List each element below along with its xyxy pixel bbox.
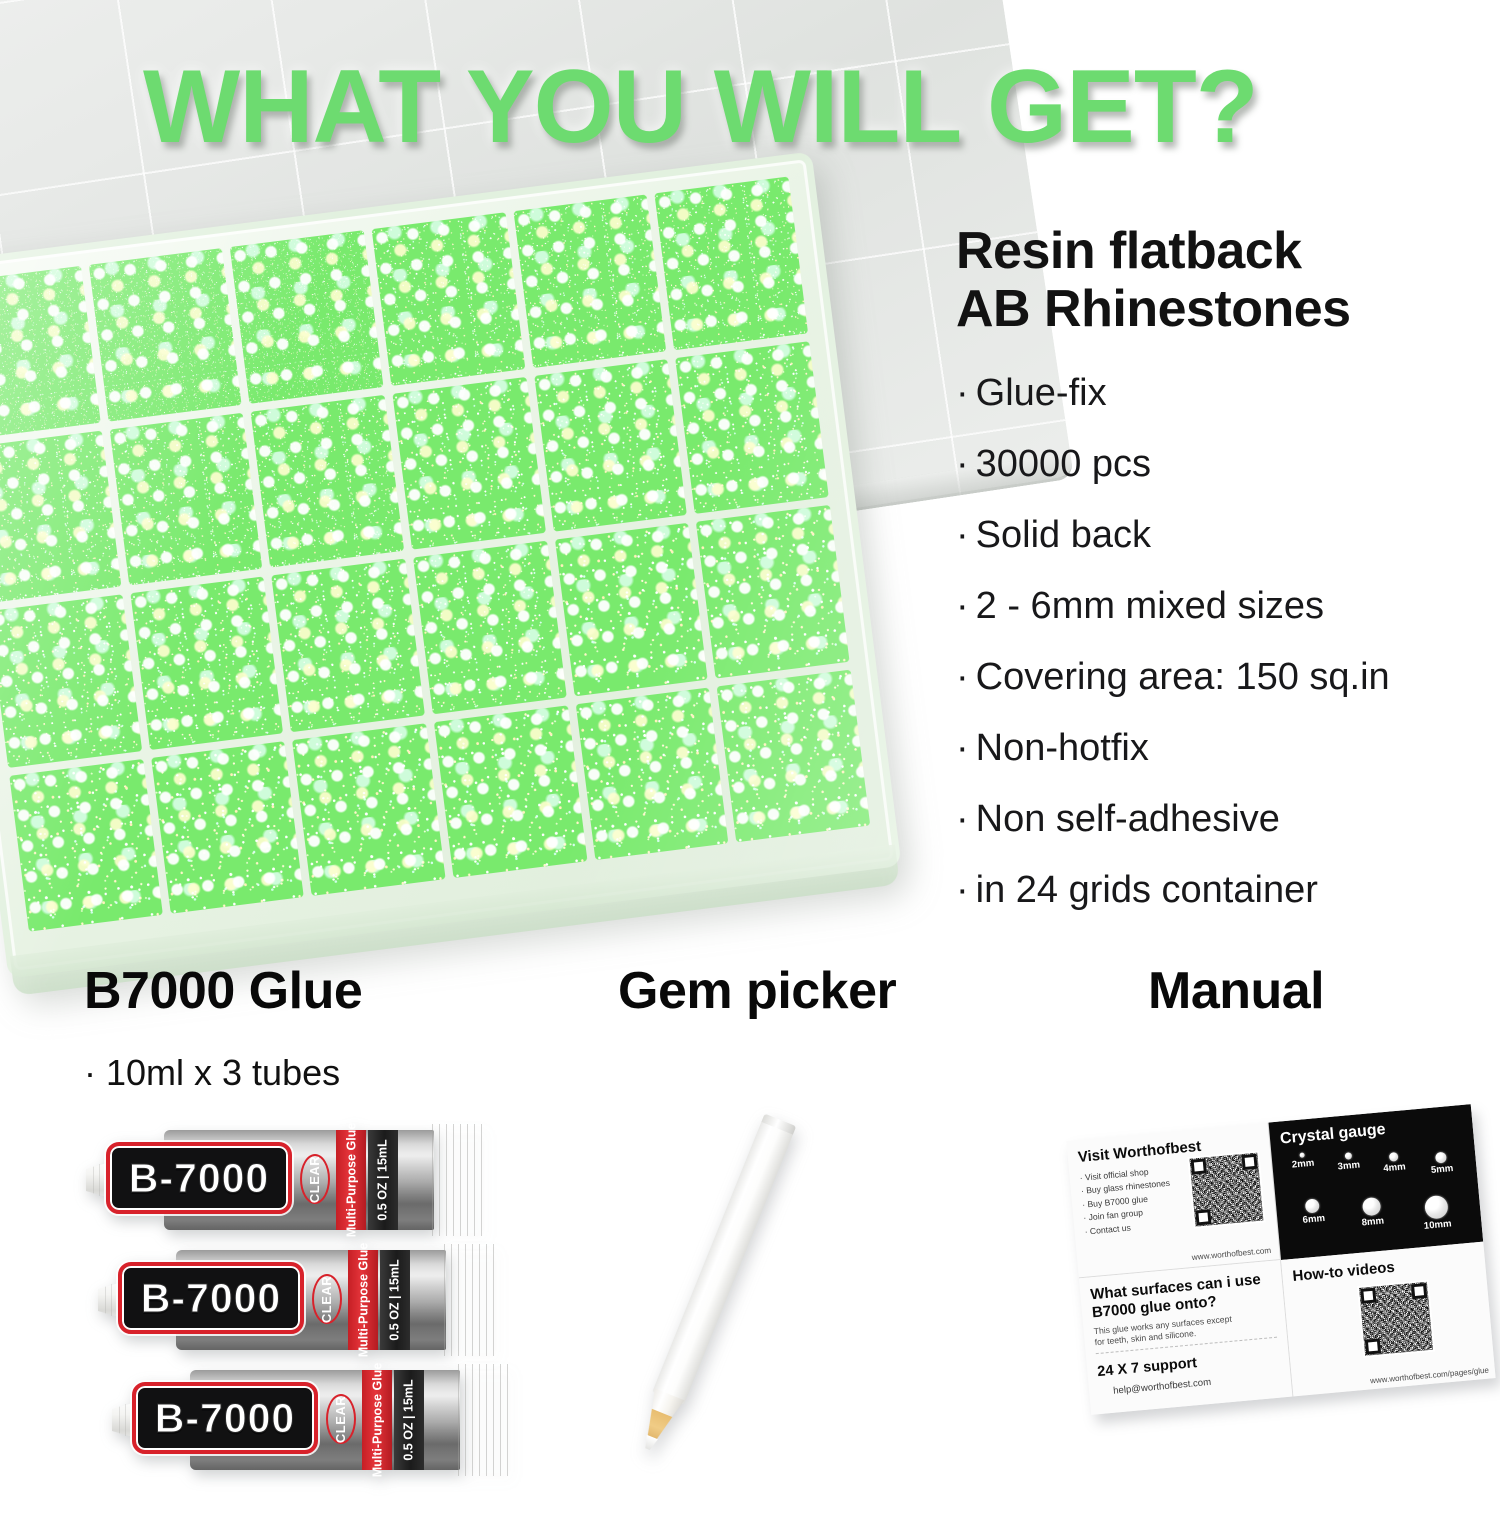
tube-crimp-end [438,1244,500,1356]
gauge-label: 10mm [1411,1218,1465,1234]
list-item: ·Glue-fix [956,358,1500,429]
section-heading-gem-picker: Gem picker [618,962,896,1020]
manual-card: Visit Worthofbest · Visit official shop … [1066,1104,1495,1415]
tube-crimp-end [426,1124,488,1236]
compartment-cell [372,212,525,385]
tube-purpose-strip: Multi-Purpose Glue [362,1370,392,1470]
compartment-cell [513,194,666,367]
bullet-dot-icon: · [956,727,969,769]
gauge-label: 3mm [1330,1159,1369,1173]
list-item: ·Covering area: 150 sq.in [956,642,1500,713]
compartment-cell [292,723,445,896]
compartment-cell [0,266,100,439]
compartment-grid [0,177,870,932]
gem-dot-icon [1435,1152,1447,1164]
glue-tube: B-7000 CLEAR Multi-Purpose Glue 0.5 OZ |… [98,1248,513,1352]
tube-volume-text: 0.5 OZ | 15mL [388,1259,402,1340]
tube-brand-label: B-7000 [118,1262,304,1334]
tube-clear-text: CLEAR [334,1395,349,1442]
tube-volume-strip: 0.5 OZ | 15mL [394,1370,424,1470]
infographic-canvas: WHAT YOU WILL GET? Resin flatback AB Rhi… [0,0,1500,1492]
qr-finder-icon [1410,1283,1426,1299]
qr-finder-icon [1241,1154,1257,1170]
gauge-sample: 8mm [1348,1196,1396,1230]
tube-brand-text: B-7000 [155,1395,295,1442]
manual-quadrant-crystal-gauge: Crystal gauge 2mm 3mm 4mm 5mm [1269,1104,1484,1259]
tube-brand-text: B-7000 [141,1275,281,1322]
list-item-label: in 24 grids container [976,869,1318,911]
gauge-label: 8mm [1350,1215,1396,1230]
gem-dot-icon [1424,1195,1449,1220]
compartment-cell [0,430,121,603]
gem-dot-icon [1344,1152,1352,1160]
gauge-label: 5mm [1421,1163,1463,1178]
compartment-cell [655,177,808,350]
bullet-dot-icon: · [956,869,969,911]
compartment-cell [575,687,728,860]
tube-brand-label: B-7000 [132,1382,318,1454]
gauge-sample: 2mm [1283,1151,1322,1171]
qr-finder-icon [1195,1209,1211,1225]
feature-column: Resin flatback AB Rhinestones ·Glue-fix … [956,222,1500,926]
compartment-cell [151,741,304,914]
rhinestone-container-box [0,151,902,978]
manual-visit-url: www.worthofbest.com [1191,1245,1271,1261]
gauge-label: 4mm [1375,1161,1414,1175]
compartment-cell [413,541,566,714]
list-item-label: Non-hotfix [976,727,1149,769]
compartment-cell [230,230,383,403]
qr-finder-icon [1364,1338,1380,1354]
bullet-dot-icon: · [956,585,969,627]
list-item: ·Non-hotfix [956,713,1500,784]
qr-finder-icon [1191,1158,1207,1174]
glue-subtext: · 10ml x 3 tubes [84,1052,340,1094]
tube-clear-text: CLEAR [308,1155,323,1202]
tube-purpose-text: Multi-Purpose Glue [356,1243,370,1358]
gauge-sample: 3mm [1329,1151,1368,1173]
list-item-label: 30000 pcs [976,443,1151,485]
bullet-dot-icon: · [956,798,969,840]
gauge-sample-grid: 2mm 3mm 4mm 5mm 6mm [1279,1134,1477,1253]
bullet-dot-icon: · [956,514,969,556]
gem-dot-icon [1305,1199,1320,1214]
list-item-label: Glue-fix [976,372,1107,414]
feature-heading-line1: Resin flatback [956,222,1500,280]
gem-dot-icon [1362,1197,1382,1217]
qr-code-shop-icon [1187,1151,1265,1229]
list-item-label: 2 - 6mm mixed sizes [976,585,1324,627]
gauge-label: 2mm [1284,1157,1323,1171]
gauge-sample: 10mm [1409,1194,1465,1234]
list-item: ·30000 pcs [956,429,1500,500]
gem-dot-icon [1389,1152,1399,1162]
compartment-cell [109,412,262,585]
list-item: ·Solid back [956,500,1500,571]
tube-brand-text: B-7000 [129,1155,269,1202]
manual-videos-url: www.worthofbest.com/pages/glue [1370,1366,1489,1386]
list-item-label: Covering area: 150 sq.in [976,656,1390,698]
compartment-cell [717,669,870,842]
compartment-cell [534,359,687,532]
tube-clear-badge: CLEAR [326,1394,356,1444]
compartment-cell [434,705,587,878]
page-title: WHAT YOU WILL GET? [143,48,1410,166]
tube-brand-label: B-7000 [106,1142,292,1214]
bullet-dot-icon: · [956,372,969,414]
compartment-cell [9,759,162,932]
qr-finder-icon [1360,1287,1376,1303]
tube-clear-badge: CLEAR [300,1154,330,1204]
section-heading-manual: Manual [1148,962,1324,1020]
tube-volume-strip: 0.5 OZ | 15mL [380,1250,410,1350]
gauge-sample: 5mm [1420,1151,1463,1178]
manual-quadrant-videos: How-to videos www.worthofbest.com/pages/… [1281,1241,1496,1396]
section-heading-glue: B7000 Glue [84,962,362,1020]
feature-list: ·Glue-fix ·30000 pcs ·Solid back ·2 - 6m… [956,358,1500,926]
tube-volume-strip: 0.5 OZ | 15mL [368,1130,398,1230]
compartment-cell [251,394,404,567]
compartment-cell [392,376,545,549]
tube-volume-text: 0.5 OZ | 15mL [376,1139,390,1220]
compartment-cell [675,341,828,514]
compartment-cell [555,523,708,696]
tube-volume-text: 0.5 OZ | 15mL [402,1379,416,1460]
glue-tube: B-7000 CLEAR Multi-Purpose Glue 0.5 OZ |… [112,1368,527,1472]
tube-clear-text: CLEAR [320,1275,335,1322]
manual-quadrant-visit: Visit Worthofbest · Visit official shop … [1066,1123,1281,1278]
tube-purpose-strip: Multi-Purpose Glue [348,1250,378,1350]
tube-purpose-text: Multi-Purpose Glue [344,1123,358,1238]
gauge-sample: 6mm [1291,1197,1335,1227]
glue-tube: B-7000 CLEAR Multi-Purpose Glue 0.5 OZ |… [86,1128,501,1232]
list-item: ·Non self-adhesive [956,784,1500,855]
list-item: ·in 24 grids container [956,855,1500,926]
tube-purpose-strip: Multi-Purpose Glue [336,1130,366,1230]
gem-dot-icon [1300,1153,1305,1158]
compartment-cell [696,505,849,678]
tube-purpose-text: Multi-Purpose Glue [370,1363,384,1478]
compartment-cell [89,248,242,421]
list-item: ·2 - 6mm mixed sizes [956,571,1500,642]
bullet-dot-icon: · [956,443,969,485]
manual-videos-heading: How-to videos [1292,1251,1476,1286]
compartment-cell [272,559,425,732]
list-item-label: Non self-adhesive [976,798,1280,840]
compartment-cell [130,576,283,749]
feature-heading-line2: AB Rhinestones [956,280,1500,338]
tube-clear-badge: CLEAR [312,1274,342,1324]
gauge-sample: 4mm [1374,1151,1414,1175]
list-item-label: Solid back [976,514,1151,556]
compartment-cell [0,594,142,767]
bullet-dot-icon: · [956,656,969,698]
gauge-label: 6mm [1293,1212,1335,1227]
manual-quadrant-surfaces: What surfaces can i use B7000 glue onto?… [1079,1260,1294,1415]
tube-crimp-end [452,1364,514,1476]
qr-code-videos-icon [1356,1279,1434,1357]
